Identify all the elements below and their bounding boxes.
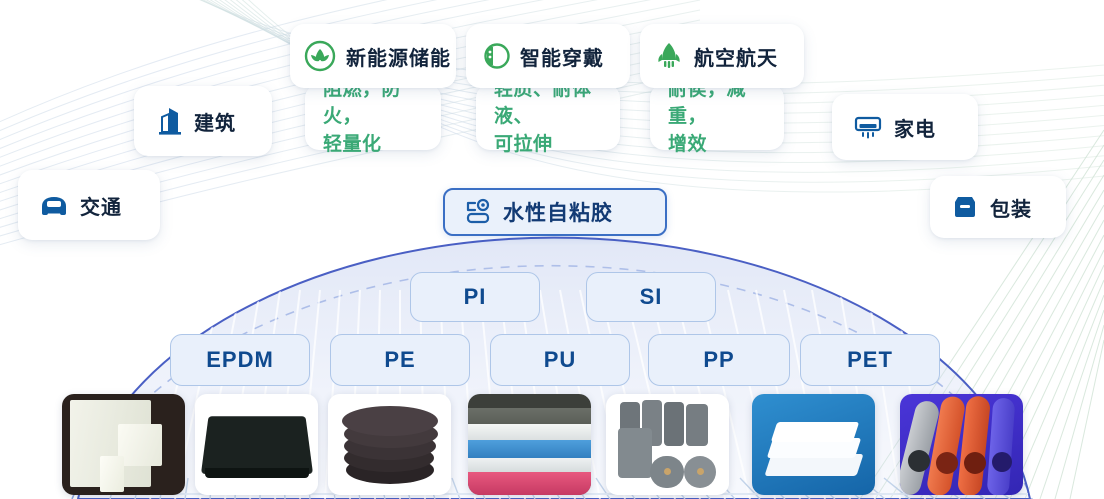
material-tag-label: PET (847, 347, 893, 373)
industry-card-smart-wearable[interactable]: 智能穿戴 (466, 24, 630, 88)
subcard-aerospace: 耐侯，减重， 增效 (650, 84, 784, 150)
material-tag-pp[interactable]: PP (648, 334, 790, 386)
infographic-canvas: 阻燃，防火， 轻量化 轻质、耐体液、 可拉伸 耐侯，减重， 增效 建筑 交通 (0, 0, 1104, 499)
product-thumb-grey-foam-rolls[interactable] (606, 394, 729, 495)
subcard-new-energy-storage: 阻燃，防火， 轻量化 (305, 84, 441, 150)
car-icon (38, 192, 70, 218)
leaf-sprout-icon (304, 40, 336, 72)
industry-card-label: 包装 (990, 193, 1032, 222)
industry-card-home-appliance[interactable]: 家电 (832, 94, 978, 160)
industry-card-label: 航空航天 (694, 42, 778, 71)
industry-card-label: 新能源储能 (346, 42, 451, 71)
material-tag-label: PI (464, 284, 487, 310)
product-thumb-black-foam-discs[interactable] (328, 394, 451, 495)
air-conditioner-icon (852, 113, 884, 141)
industry-card-packaging[interactable]: 包装 (930, 176, 1066, 238)
material-tag-label: EPDM (206, 347, 274, 373)
material-tag-pi[interactable]: PI (410, 272, 540, 322)
material-tag-pet[interactable]: PET (800, 334, 940, 386)
industry-card-aerospace[interactable]: 航空航天 (640, 24, 804, 88)
product-thumb-colored-fabric-stack[interactable] (468, 394, 591, 495)
industry-card-label: 家电 (894, 113, 936, 142)
material-tag-pu[interactable]: PU (490, 334, 630, 386)
industry-card-label: 智能穿戴 (520, 42, 604, 71)
material-tag-pe[interactable]: PE (330, 334, 470, 386)
product-thumb-black-foam-sheet[interactable] (195, 394, 318, 495)
industry-card-transportation[interactable]: 交通 (18, 170, 160, 240)
material-tag-label: PU (544, 347, 577, 373)
industry-card-label: 建筑 (194, 107, 236, 136)
subcard-text: 轻质、耐体液、 可拉伸 (476, 76, 620, 159)
product-thumb-white-foam-sheets[interactable] (752, 394, 875, 495)
subcard-smart-wearable: 轻质、耐体液、 可拉伸 (476, 84, 620, 150)
adhesive-layers-icon (463, 198, 493, 226)
subcard-text: 阻燃，防火， 轻量化 (305, 76, 441, 159)
product-thumb-colored-foam-tubes[interactable] (900, 394, 1023, 495)
subcard-text: 耐侯，减重， 增效 (650, 76, 784, 159)
material-tag-epdm[interactable]: EPDM (170, 334, 310, 386)
material-tag-label: PP (703, 347, 734, 373)
center-product-pill[interactable]: 水性自粘胶 (443, 188, 667, 236)
industry-card-label: 交通 (80, 191, 122, 220)
package-box-icon (950, 193, 980, 221)
product-thumb-white-foam-blocks[interactable] (62, 394, 185, 495)
rocket-icon (654, 40, 684, 72)
industry-card-construction[interactable]: 建筑 (134, 86, 272, 156)
building-icon (154, 105, 184, 137)
center-product-label: 水性自粘胶 (503, 197, 613, 227)
industry-card-new-energy-storage[interactable]: 新能源储能 (290, 24, 456, 88)
material-tag-si[interactable]: SI (586, 272, 716, 322)
material-tag-label: SI (640, 284, 663, 310)
smartwatch-icon (480, 40, 510, 72)
material-tag-label: PE (384, 347, 415, 373)
